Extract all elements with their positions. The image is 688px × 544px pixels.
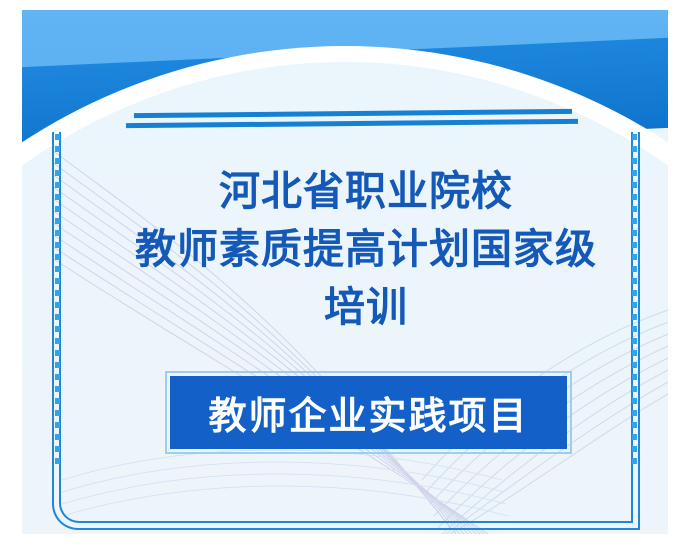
poster-title: 河北省职业院校 教师素质提高计划国家级 培训 (76, 162, 656, 336)
poster-background-panel: 河北省职业院校 教师素质提高计划国家级 培训 教师企业实践项目 (22, 10, 668, 534)
title-line-2: 教师素质提高计划国家级 (76, 220, 656, 278)
project-badge: 教师企业实践项目 (170, 376, 567, 449)
title-line-3: 培训 (76, 278, 656, 336)
title-line-1: 河北省职业院校 (76, 162, 656, 220)
poster-canvas: 河北省职业院校 教师素质提高计划国家级 培训 教师企业实践项目 (0, 0, 688, 544)
project-badge-label: 教师企业实践项目 (208, 385, 528, 440)
frame-left-ladder-dashes (55, 134, 60, 464)
